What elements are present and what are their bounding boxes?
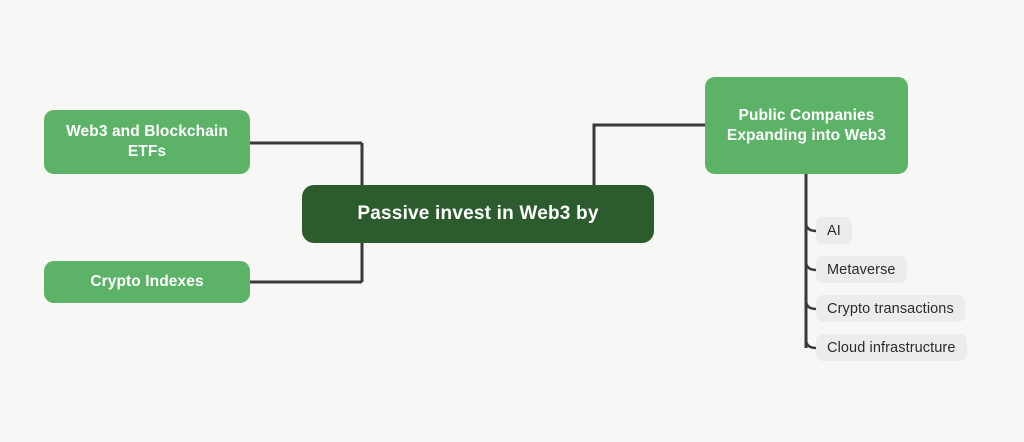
- mindmap-canvas: Web3 and Blockchain ETFs Crypto Indexes …: [0, 0, 1024, 442]
- leaf-node-crypto-transactions[interactable]: Crypto transactions: [816, 295, 965, 322]
- leaf-node-label: Cloud infrastructure: [827, 340, 956, 356]
- root-node-label: Passive invest in Web3 by: [357, 202, 598, 226]
- leaf-node-cloud-infrastructure[interactable]: Cloud infrastructure: [816, 334, 967, 361]
- leaf-node-label: Crypto transactions: [827, 301, 954, 317]
- leaf-node-label: AI: [827, 223, 841, 239]
- branch-node-web3-blockchain-etfs[interactable]: Web3 and Blockchain ETFs: [44, 110, 250, 174]
- root-node-passive-invest-web3[interactable]: Passive invest in Web3 by: [302, 185, 654, 243]
- branch-node-label: Public Companies Expanding into Web3: [717, 106, 896, 146]
- leaf-node-metaverse[interactable]: Metaverse: [816, 256, 907, 283]
- branch-node-public-companies-web3[interactable]: Public Companies Expanding into Web3: [705, 77, 908, 174]
- branch-node-crypto-indexes[interactable]: Crypto Indexes: [44, 261, 250, 303]
- leaf-node-label: Metaverse: [827, 262, 896, 278]
- branch-node-label: Web3 and Blockchain ETFs: [56, 122, 238, 162]
- leaf-node-ai[interactable]: AI: [816, 217, 852, 244]
- branch-node-label: Crypto Indexes: [90, 272, 203, 292]
- connector-public-companies: [594, 125, 705, 185]
